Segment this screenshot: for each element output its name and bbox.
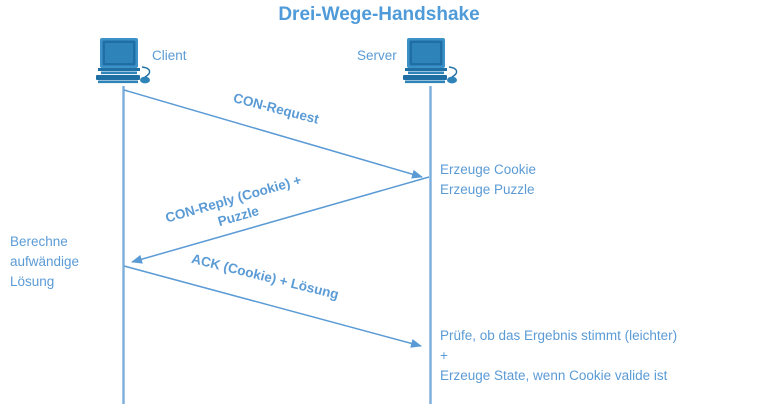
actor-label-server: Server	[357, 48, 397, 63]
client-computer-icon	[96, 38, 150, 83]
note-server-verify-result: Prüfe, ob das Ergebnis stimmt (leichter)…	[440, 326, 752, 386]
actor-label-client: Client	[152, 48, 187, 63]
page-title: Drei-Wege-Handshake	[0, 4, 758, 26]
server-computer-icon	[403, 38, 457, 83]
note-server-create-cookie-puzzle: Erzeuge Cookie Erzeuge Puzzle	[440, 160, 690, 200]
sequence-diagram-canvas: Drei-Wege-Handshake Client Server CON-Re…	[0, 0, 758, 404]
note-client-compute-solution: Berechne aufwändige Lösung	[10, 232, 115, 292]
